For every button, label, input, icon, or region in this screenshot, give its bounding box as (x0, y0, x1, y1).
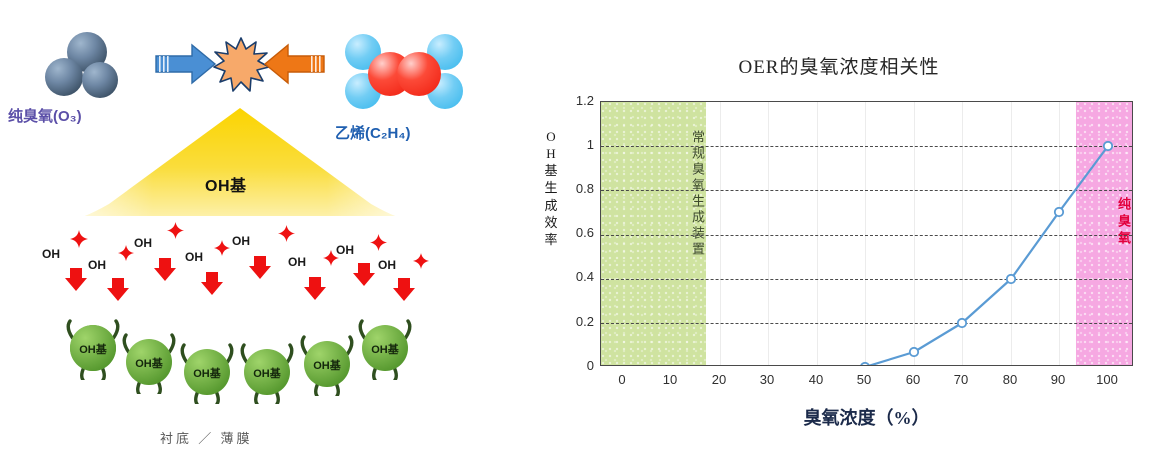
surface-oh-character: OH基 (62, 318, 124, 380)
x-tick-label: 20 (699, 372, 739, 387)
y-tick-label: 0.8 (546, 181, 594, 196)
plot-area: 常规臭氧生成装置 纯臭氧 (600, 101, 1133, 366)
surface-oh-character: OH基 (354, 318, 416, 380)
surface-oh-character: OH基 (236, 342, 298, 404)
x-tick-label: 70 (941, 372, 981, 387)
x-tick-label: 0 (602, 372, 642, 387)
y-axis-ticks: 1.2 1 0.8 0.6 0.4 0.2 0 (538, 101, 594, 366)
radical-star-icon (118, 245, 134, 261)
data-point-marker (910, 348, 918, 356)
y-tick-label: 0.6 (546, 225, 594, 240)
radical-star-icon (323, 250, 339, 266)
y-tick-label: 1.2 (546, 93, 594, 108)
radical-star-icon (70, 230, 88, 248)
arrow-down-red-icon (200, 272, 224, 296)
ethylene-molecule-icon (345, 32, 463, 110)
arrow-down-red-icon (392, 278, 416, 302)
data-point-marker (958, 319, 966, 327)
plume-label: OH基 (205, 172, 247, 196)
y-tick-label: 0.4 (546, 269, 594, 284)
x-axis-ticks: 0 10 20 30 40 50 60 70 80 90 100 (600, 372, 1133, 394)
surface-oh-character: OH基 (118, 332, 180, 394)
data-point-marker (1104, 142, 1112, 150)
y-tick-label: 0 (546, 358, 594, 373)
x-tick-label: 100 (1087, 372, 1127, 387)
substrate-caption: 衬底 ／ 薄膜 (160, 428, 253, 447)
arrow-down-red-icon (106, 278, 130, 302)
data-series-line (601, 102, 1133, 366)
data-point-marker (1007, 275, 1015, 283)
arrow-down-red-icon (64, 268, 88, 292)
reaction-schematic: 纯臭氧(O₃) 乙烯(C₂H₄) (0, 0, 520, 464)
arrow-down-red-icon (352, 263, 376, 287)
radical-star-icon (370, 234, 387, 251)
oh-radical-label: OH (42, 247, 60, 261)
carbon-atom-icon (397, 52, 441, 96)
x-tick-label: 40 (796, 372, 836, 387)
oh-radical-label: OH (88, 258, 106, 272)
y-tick-label: 0.2 (546, 314, 594, 329)
chart-title: OER的臭氧浓度相关性 (520, 52, 1158, 79)
radical-star-icon (278, 225, 295, 242)
data-point-marker (861, 363, 869, 366)
oh-radical-label: OH (185, 250, 203, 264)
ozone-atom-icon (45, 58, 83, 96)
oh-radical-label: OH (288, 255, 306, 269)
arrow-right-blue-icon (152, 42, 218, 86)
oh-radical-label: OH (232, 234, 250, 248)
radical-star-icon (167, 222, 184, 239)
radical-star-icon (214, 240, 230, 256)
x-tick-label: 60 (893, 372, 933, 387)
screenshot-root: 纯臭氧(O₃) 乙烯(C₂H₄) (0, 0, 1158, 464)
data-point-marker (1055, 208, 1063, 216)
arrow-down-red-icon (248, 256, 272, 280)
arrow-left-orange-icon (262, 42, 328, 86)
arrow-down-red-icon (303, 277, 327, 301)
x-tick-label: 30 (747, 372, 787, 387)
surface-oh-character: OH基 (296, 334, 358, 396)
x-tick-label: 90 (1038, 372, 1078, 387)
arrow-down-red-icon (153, 258, 177, 282)
oh-radical-label: OH (134, 236, 152, 250)
oh-plume-shape (55, 108, 425, 218)
ozone-concentration-chart: OER的臭氧浓度相关性 O H 基 生 成 效 率 1.2 1 0.8 0.6 … (520, 0, 1158, 464)
radical-star-icon (413, 253, 429, 269)
x-tick-label: 50 (844, 372, 884, 387)
x-axis-title: 臭氧浓度（%） (600, 404, 1133, 430)
x-tick-label: 80 (990, 372, 1030, 387)
oh-radical-label: OH (378, 258, 396, 272)
y-tick-label: 1 (546, 137, 594, 152)
ozone-atom-icon (82, 62, 118, 98)
x-tick-label: 10 (650, 372, 690, 387)
surface-oh-character: OH基 (176, 342, 238, 404)
ozone-molecule-icon (45, 32, 135, 104)
